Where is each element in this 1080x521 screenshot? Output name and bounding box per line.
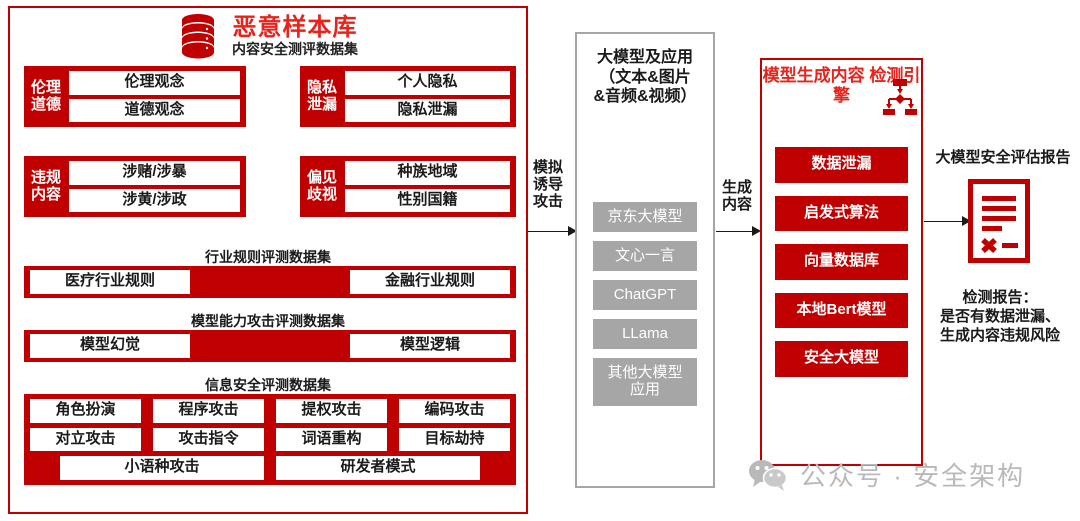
infosec-grid: 角色扮演 程序攻击 提权攻击 编码攻击 对立攻击 攻击指令 词语重构 目标劫持 bbox=[30, 399, 510, 451]
section-item[interactable]: 模型幻觉 bbox=[30, 334, 190, 358]
section-item[interactable]: 模型逻辑 bbox=[350, 334, 510, 358]
llm-application-panel: 大模型及应用 （文本&图片 &音频&视频） 京东大模型 文心一言 ChatGPT… bbox=[575, 32, 715, 488]
detection-engine-item[interactable]: 安全大模型 bbox=[775, 341, 908, 377]
report-caption: 检测报告： 是否有数据泄漏、 生成内容违规风险 bbox=[920, 288, 1080, 346]
section-item[interactable]: 医疗行业规则 bbox=[30, 270, 190, 294]
llm-model-item[interactable]: 文心一言 bbox=[593, 241, 697, 271]
arrow-line-generate bbox=[716, 231, 756, 232]
watermark-text: 公众号 · 安全架构 bbox=[800, 456, 1025, 493]
left-panel-header: 恶意样本库 内容安全测评数据集 bbox=[10, 10, 526, 62]
section-title-infosec: 信息安全评测数据集 bbox=[10, 375, 526, 395]
section-title-industry: 行业规则评测数据集 bbox=[10, 247, 526, 267]
llm-model-item[interactable]: 其他大模型 应用 bbox=[593, 358, 697, 405]
database-icon bbox=[178, 13, 218, 59]
category-item[interactable]: 涉黄/涉政 bbox=[69, 189, 240, 213]
infosec-bottom-row: 小语种攻击 研发者模式 bbox=[30, 456, 510, 480]
category-privacy: 隐私 泄漏 个人隐私 隐私泄漏 bbox=[300, 66, 516, 127]
category-item[interactable]: 涉赌/涉暴 bbox=[69, 161, 240, 185]
arrow-line-report bbox=[924, 221, 966, 222]
llm-model-item[interactable]: ChatGPT bbox=[593, 280, 697, 310]
section-infosec-items: 角色扮演 程序攻击 提权攻击 编码攻击 对立攻击 攻击指令 词语重构 目标劫持 … bbox=[24, 394, 516, 485]
detection-engine-item[interactable]: 数据泄漏 bbox=[775, 147, 908, 183]
category-item[interactable]: 道德观念 bbox=[69, 99, 240, 123]
watermark: 公众号 · 安全架构 bbox=[748, 456, 1025, 493]
category-item[interactable]: 种族地域 bbox=[345, 161, 510, 185]
arrow-label-simulated-attack: 模拟 诱导 攻击 bbox=[524, 160, 572, 210]
category-violation: 违规 内容 涉赌/涉暴 涉黄/涉政 bbox=[24, 156, 246, 217]
llm-model-item[interactable]: 京东大模型 bbox=[593, 202, 697, 232]
report-title: 大模型安全评估报告 bbox=[926, 146, 1080, 167]
infosec-item[interactable]: 程序攻击 bbox=[153, 399, 264, 423]
infosec-item[interactable]: 角色扮演 bbox=[30, 399, 141, 423]
category-item[interactable]: 个人隐私 bbox=[345, 71, 510, 95]
llm-model-item[interactable]: LLama bbox=[593, 319, 697, 349]
infosec-item[interactable]: 对立攻击 bbox=[30, 428, 141, 452]
category-item[interactable]: 隐私泄漏 bbox=[345, 99, 510, 123]
arrow-line-attack bbox=[528, 231, 572, 232]
section-capability-items: 模型幻觉 模型逻辑 bbox=[24, 330, 516, 362]
detection-engine-list: 数据泄漏 启发式算法 向量数据库 本地Bert模型 安全大模型 bbox=[775, 147, 908, 377]
left-title-block: 恶意样本库 内容安全测评数据集 bbox=[232, 15, 358, 58]
page-title: 恶意样本库 bbox=[232, 15, 358, 40]
flowchart-icon bbox=[882, 79, 918, 115]
llm-panel-title: 大模型及应用 （文本&图片 &音频&视频） bbox=[577, 48, 713, 107]
category-label: 违规 内容 bbox=[28, 170, 64, 204]
category-item[interactable]: 性别国籍 bbox=[345, 189, 510, 213]
detection-engine-item[interactable]: 启发式算法 bbox=[775, 196, 908, 232]
arrow-label-generated-content: 生成 内容 bbox=[714, 180, 760, 214]
diagram-canvas: 恶意样本库 内容安全测评数据集 伦理 道德 伦理观念 道德观念 隐私 泄漏 个人… bbox=[0, 0, 1080, 521]
infosec-item[interactable]: 词语重构 bbox=[276, 428, 387, 452]
section-industry-items: 医疗行业规则 金融行业规则 bbox=[24, 266, 516, 298]
page-subtitle: 内容安全测评数据集 bbox=[232, 41, 358, 58]
category-label: 偏见 歧视 bbox=[304, 170, 340, 204]
malicious-sample-library-panel: 恶意样本库 内容安全测评数据集 伦理 道德 伦理观念 道德观念 隐私 泄漏 个人… bbox=[8, 6, 528, 514]
llm-model-list: 京东大模型 文心一言 ChatGPT LLama 其他大模型 应用 bbox=[593, 202, 697, 406]
infosec-item[interactable]: 研发者模式 bbox=[276, 456, 480, 480]
infosec-item[interactable]: 攻击指令 bbox=[153, 428, 264, 452]
category-bias: 偏见 歧视 种族地域 性别国籍 bbox=[300, 156, 516, 217]
infosec-item[interactable]: 提权攻击 bbox=[276, 399, 387, 423]
infosec-item[interactable]: 编码攻击 bbox=[399, 399, 510, 423]
section-item[interactable]: 金融行业规则 bbox=[350, 270, 510, 294]
infosec-item[interactable]: 目标劫持 bbox=[399, 428, 510, 452]
detection-engine-panel: 模型生成内容 检测引擎 数据泄漏 启发式算法 向量数据库 本地Bert模型 安全… bbox=[760, 58, 923, 466]
detection-engine-item[interactable]: 向量数据库 bbox=[775, 244, 908, 280]
detection-engine-item[interactable]: 本地Bert模型 bbox=[775, 293, 908, 329]
category-label: 隐私 泄漏 bbox=[304, 80, 340, 114]
section-title-capability: 模型能力攻击评测数据集 bbox=[10, 311, 526, 331]
wechat-icon bbox=[748, 459, 788, 491]
category-item[interactable]: 伦理观念 bbox=[69, 71, 240, 95]
category-label: 伦理 道德 bbox=[28, 80, 64, 114]
document-report-icon bbox=[968, 179, 1030, 263]
infosec-item[interactable]: 小语种攻击 bbox=[60, 456, 264, 480]
category-ethics: 伦理 道德 伦理观念 道德观念 bbox=[24, 66, 246, 127]
